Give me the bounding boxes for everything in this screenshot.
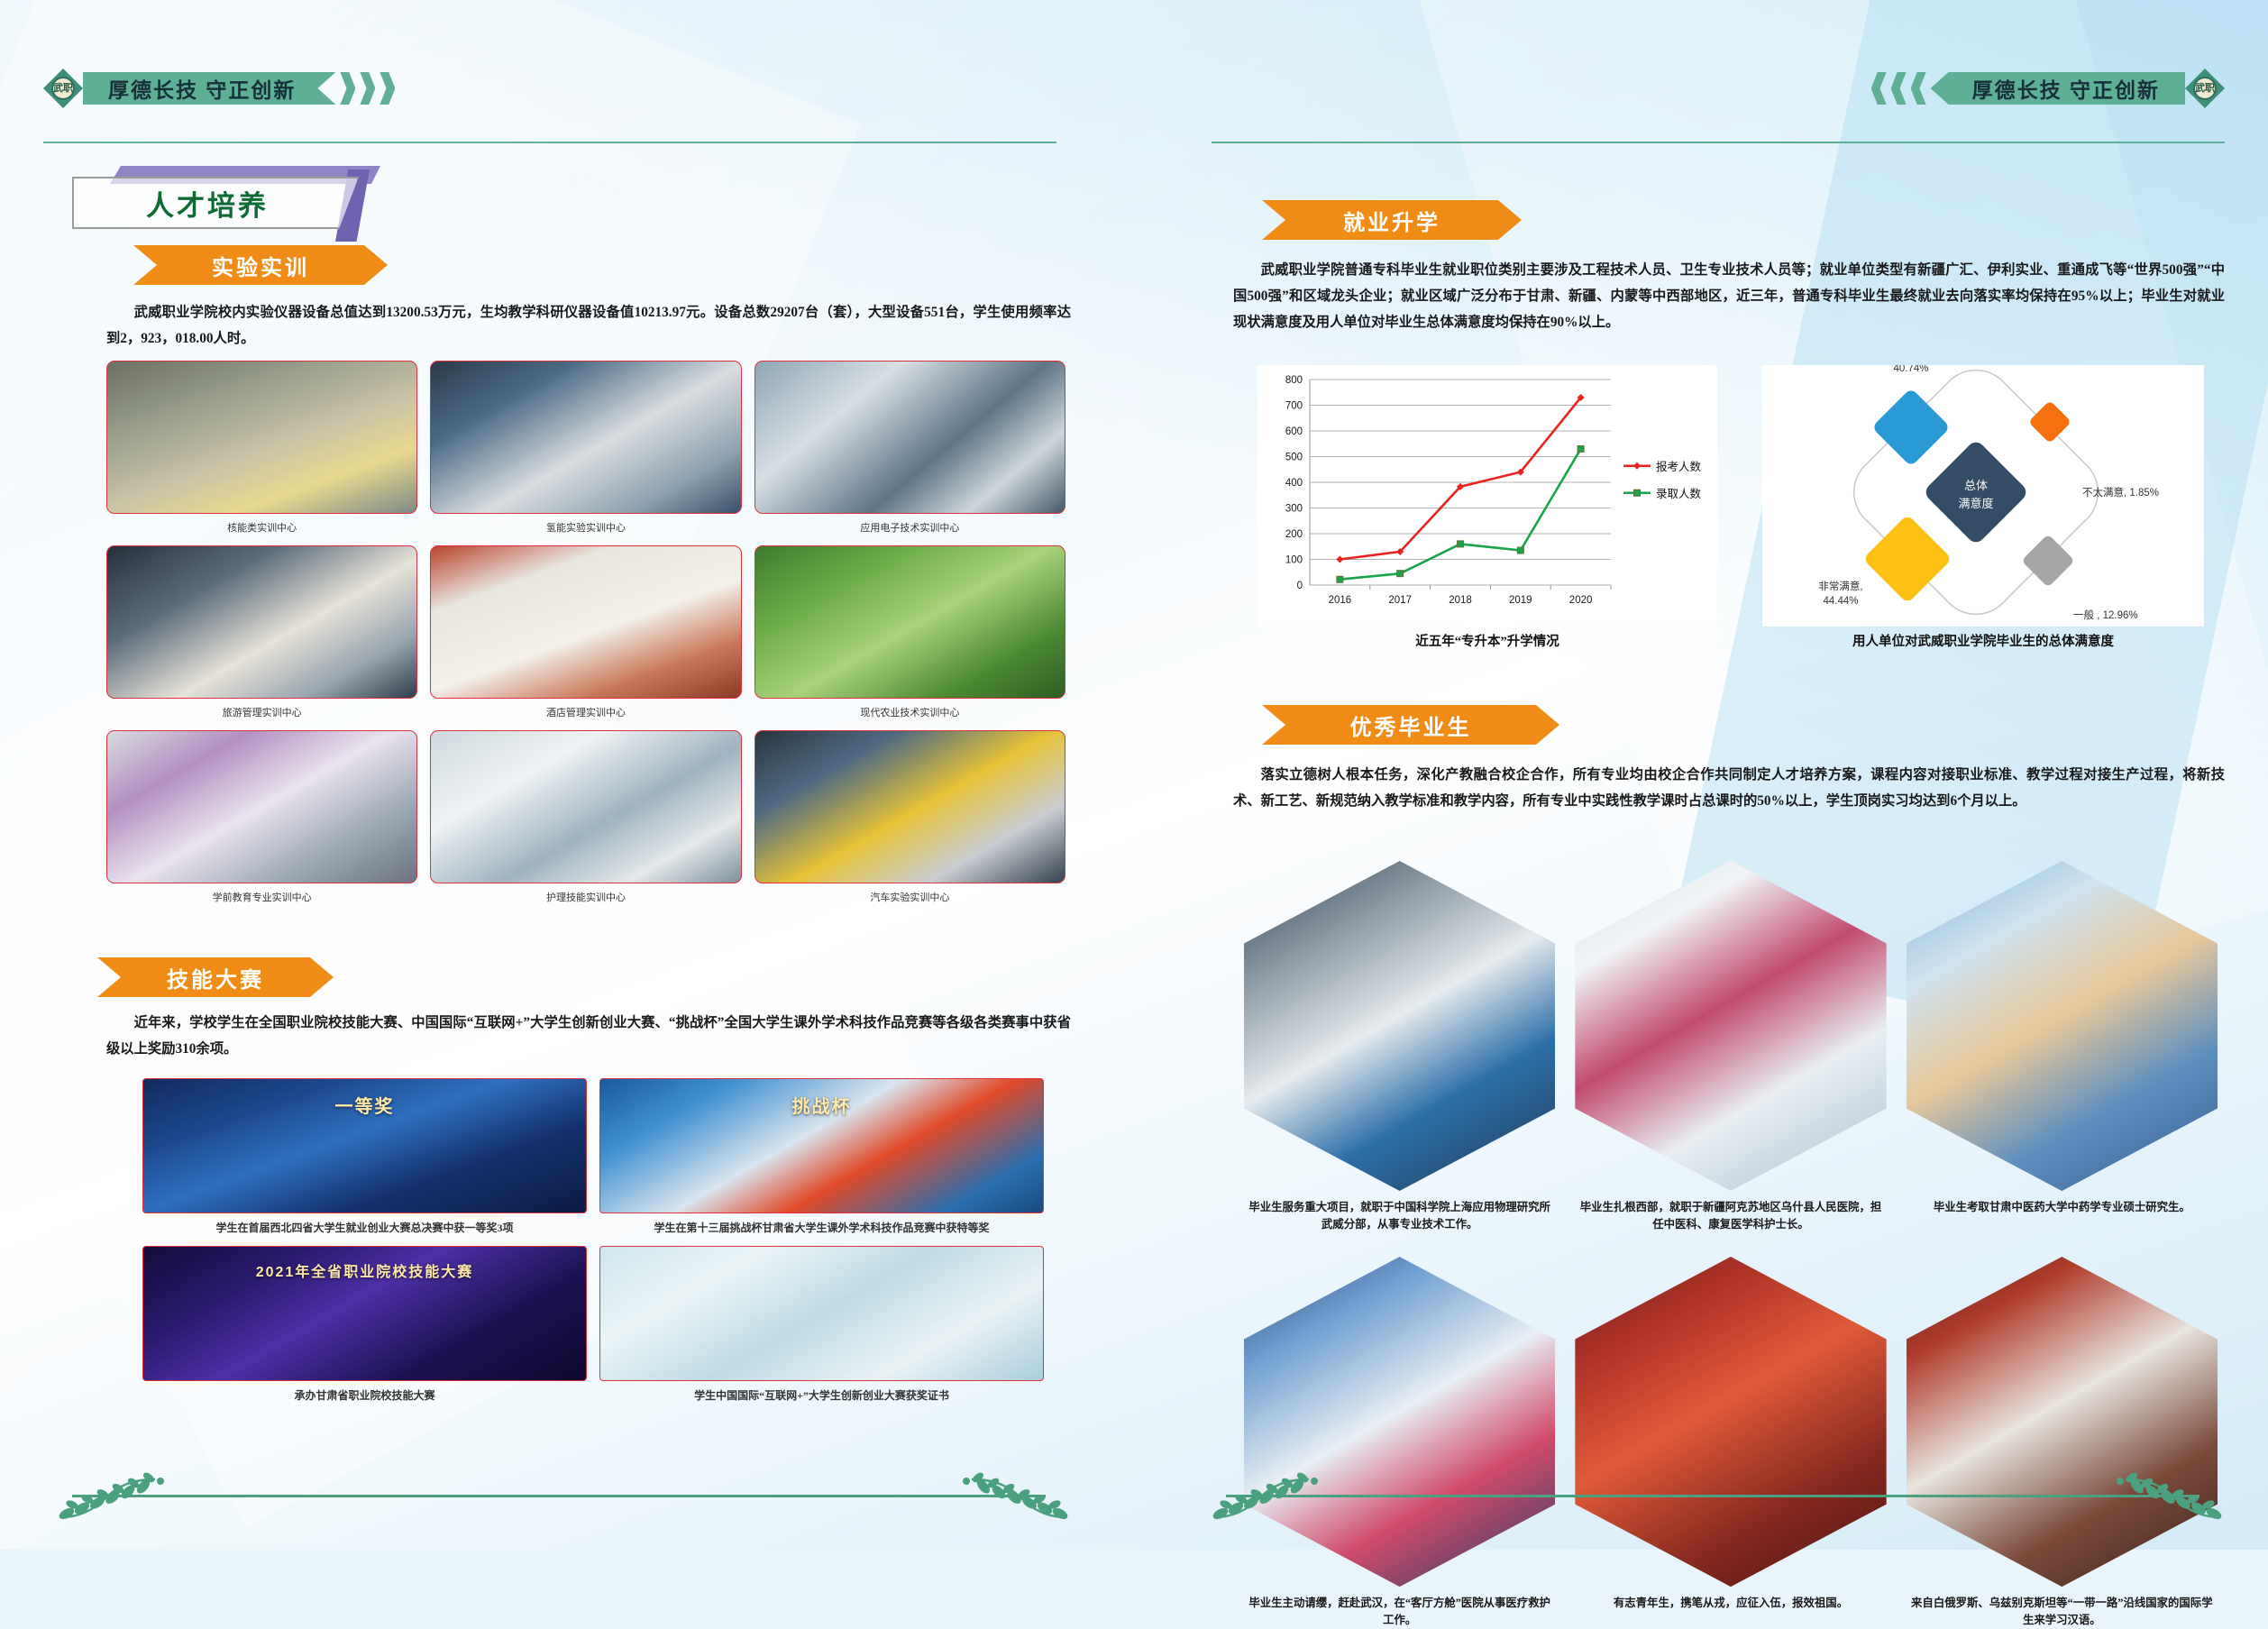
- lab-photo-item: 学前教育专业实训中心: [106, 730, 417, 904]
- lab-photo: [106, 730, 417, 883]
- lab-photo-caption: 旅游管理实训中心: [223, 705, 302, 719]
- page-title: 人才培养: [146, 183, 285, 224]
- lab-photo: [754, 361, 1065, 514]
- lab-photo: [430, 545, 741, 699]
- contest-photo-caption: 承办甘肃省职业院校技能大赛: [294, 1387, 434, 1403]
- graduate-item: 有志青年生，携笔从戎，应征入伍，报效祖国。: [1575, 1257, 1886, 1629]
- lab-photo-caption: 核能类实训中心: [227, 520, 297, 535]
- line-chart-svg: 0100200300400500600700800201620172018201…: [1257, 365, 1717, 627]
- chevron-icon: [340, 72, 355, 105]
- section-banner-employment: 就业升学: [1262, 200, 1522, 240]
- contest-photo-caption: 学生中国国际“互联网+”大学生创新创业大赛获奖证书: [694, 1387, 949, 1403]
- lab-photo-caption: 学前教育专业实训中心: [213, 890, 312, 904]
- graduate-item: 毕业生服务重大项目，就职于中国科学院上海应用物理研究所武威分部，从事专业技术工作…: [1244, 861, 1555, 1233]
- graduate-caption: 有志青年生，携笔从戎，应征入伍，报效祖国。: [1614, 1595, 1848, 1612]
- contest-photo-item: 学生中国国际“互联网+”大学生创新创业大赛获奖证书: [599, 1246, 1044, 1403]
- graduate-photo: [1907, 1257, 2218, 1587]
- lab-photo-item: 核能类实训中心: [106, 361, 417, 535]
- lab-photo: [754, 730, 1065, 883]
- svg-text:100: 100: [1285, 555, 1303, 566]
- line-chart: 0100200300400500600700800201620172018201…: [1257, 365, 1717, 627]
- graduate-photo: [1907, 861, 2218, 1191]
- section-banner-graduates: 优秀毕业生: [1262, 705, 1559, 745]
- graduate-photo: [1244, 1257, 1555, 1587]
- footer-ornament: [956, 1472, 1073, 1523]
- svg-text:满意度: 满意度: [1958, 497, 1993, 510]
- header-ribbon-right: 厚德长技 守正创新 武职: [1871, 69, 2225, 108]
- lab-photo-item: 现代农业技术实训中心: [754, 545, 1065, 719]
- svg-text:200: 200: [1285, 529, 1303, 540]
- vine-ornament-icon: [956, 1472, 1073, 1523]
- contest-photo-caption: 学生在第十三届挑战杯甘肃省大学生课外学术科技作品竞赛中获特等奖: [654, 1220, 989, 1235]
- svg-text:0: 0: [1297, 581, 1303, 591]
- chevron-icon: [1891, 72, 1907, 105]
- section-banner-contest: 技能大赛: [97, 957, 334, 997]
- graduate-caption: 来自白俄罗斯、乌兹别克斯坦等“一带一路”沿线国家的国际学生来学习汉语。: [1907, 1595, 2218, 1629]
- contest-photo-overlay-text: 2021年全省职业院校技能大赛: [143, 1259, 586, 1281]
- section-banner-label: 技能大赛: [97, 957, 334, 997]
- contest-photo: [599, 1246, 1044, 1381]
- graduate-item: 毕业生考取甘肃中医药大学中药学专业硕士研究生。: [1907, 861, 2218, 1233]
- vine-ornament-icon: [1208, 1472, 1325, 1523]
- graduate-caption: 毕业生考取甘肃中医药大学中药学专业硕士研究生。: [1934, 1199, 2190, 1216]
- lab-photo: [754, 545, 1065, 699]
- svg-text:600: 600: [1285, 426, 1303, 437]
- contest-photo-item: 一等奖学生在首届西北四省大学生就业创业大赛总决赛中获一等奖3项: [142, 1078, 587, 1235]
- footer-vine-right: [1226, 1495, 2199, 1497]
- graduate-photo: [1244, 861, 1555, 1191]
- graduate-caption: 毕业生主动请缨，赶赴武汉，在“客厅方舱”医院从事医疗救护工作。: [1244, 1595, 1555, 1629]
- svg-text:2019: 2019: [1509, 595, 1532, 606]
- svg-text:录取人数: 录取人数: [1656, 487, 1702, 500]
- section-banner-label: 实验实训: [133, 245, 388, 285]
- chevron-icon: [1911, 72, 1926, 105]
- graduate-item: 毕业生扎根西部，就职于新疆阿克苏地区乌什县人民医院，担任中医科、康复医学科护士长…: [1575, 861, 1886, 1233]
- contest-photo-item: 2021年全省职业院校技能大赛承办甘肃省职业院校技能大赛: [142, 1246, 587, 1403]
- svg-text:2020: 2020: [1569, 595, 1593, 606]
- lab-photo-item: 酒店管理实训中心: [430, 545, 741, 719]
- footer-vine-left: [72, 1495, 1046, 1497]
- chevron-icon: [360, 72, 375, 105]
- lab-photo-caption: 氢能实验实训中心: [546, 520, 626, 535]
- lab-photo-item: 旅游管理实训中心: [106, 545, 417, 719]
- section-paragraph-lab: 武威职业学院校内实验仪器设备总值达到13200.53万元，生均教学科研仪器设备值…: [106, 299, 1071, 352]
- svg-text:2018: 2018: [1449, 595, 1472, 606]
- footer-ornament: [54, 1472, 171, 1523]
- section-paragraph-employment: 武威职业学院普通专科毕业生就业职位类别主要涉及工程技术人员、卫生专业技术人员等；…: [1233, 257, 2225, 335]
- college-seal-icon: 武职: [2185, 69, 2225, 108]
- svg-text:800: 800: [1285, 375, 1303, 386]
- contest-photo-caption: 学生在首届西北四省大学生就业创业大赛总决赛中获一等奖3项: [215, 1220, 513, 1235]
- lab-photo-caption: 现代农业技术实训中心: [860, 705, 959, 719]
- svg-text:2017: 2017: [1388, 595, 1412, 606]
- chevron-icon: [1871, 72, 1887, 105]
- satisfaction-chart-caption: 用人单位对武威职业学院毕业生的总体满意度: [1744, 631, 2222, 650]
- line-chart-caption: 近五年“专升本”升学情况: [1257, 631, 1717, 650]
- college-seal-icon: 武职: [43, 69, 83, 108]
- graduate-item: 毕业生主动请缨，赶赴武汉，在“客厅方舱”医院从事医疗救护工作。: [1244, 1257, 1555, 1629]
- footer-ornament: [1208, 1472, 1325, 1523]
- lab-photo: [430, 361, 741, 514]
- plate-frame: 人才培养: [72, 177, 359, 229]
- header-ribbon-left: 武职 厚德长技 守正创新: [43, 69, 395, 108]
- svg-text:2016: 2016: [1329, 595, 1352, 606]
- contest-photo-overlay-text: 挑战杯: [600, 1092, 1043, 1118]
- lab-photo: [106, 545, 417, 699]
- contest-photo-grid: 一等奖学生在首届西北四省大学生就业创业大赛总决赛中获一等奖3项挑战杯学生在第十三…: [142, 1078, 1044, 1403]
- svg-text:700: 700: [1285, 401, 1303, 412]
- graduate-photo: [1575, 861, 1886, 1191]
- graduate-caption: 毕业生扎根西部，就职于新疆阿克苏地区乌什县人民医院，担任中医科、康复医学科护士长…: [1575, 1199, 1886, 1233]
- contest-photo: 挑战杯: [599, 1078, 1044, 1213]
- header-motto-right: 厚德长技 守正创新: [1931, 72, 2185, 105]
- section-paragraph-graduates: 落实立德树人根本任务，深化产教融合校企合作，所有专业均由校企合作共同制定人才培养…: [1233, 762, 2225, 814]
- lab-photo-caption: 应用电子技术实训中心: [860, 520, 959, 535]
- lab-photo: [106, 361, 417, 514]
- svg-text:报考人数: 报考人数: [1656, 460, 1702, 473]
- contest-photo-item: 挑战杯学生在第十三届挑战杯甘肃省大学生课外学术科技作品竞赛中获特等奖: [599, 1078, 1044, 1235]
- svg-text:不太满意, 1.85%: 不太满意, 1.85%: [2082, 486, 2159, 499]
- section-banner-label: 就业升学: [1262, 200, 1522, 240]
- seal-disc: 武职: [2193, 77, 2217, 100]
- seal-disc: 武职: [51, 77, 75, 100]
- svg-text:40.74%: 40.74%: [1893, 365, 1928, 374]
- header-underline-left: [43, 142, 1056, 143]
- graduate-caption: 毕业生服务重大项目，就职于中国科学院上海应用物理研究所武威分部，从事专业技术工作…: [1244, 1199, 1555, 1233]
- satisfaction-chart-svg: 总体满意度比较满意,40.74%不太满意, 1.85%一般 , 12.96%非常…: [1762, 365, 2204, 627]
- lab-photo-item: 应用电子技术实训中心: [754, 361, 1065, 535]
- page-title-plate: 人才培养: [72, 177, 389, 231]
- chevron-icon: [380, 72, 395, 105]
- satisfaction-chart: 总体满意度比较满意,40.74%不太满意, 1.85%一般 , 12.96%非常…: [1762, 365, 2204, 627]
- lab-photo-item: 氢能实验实训中心: [430, 361, 741, 535]
- header-motto-left: 厚德长技 守正创新: [83, 72, 335, 105]
- header-underline-right: [1212, 142, 2225, 143]
- contest-photo: 一等奖: [142, 1078, 587, 1213]
- svg-text:非常满意,: 非常满意,: [1818, 580, 1862, 592]
- lab-photo-item: 护理技能实训中心: [430, 730, 741, 904]
- graduate-photo: [1575, 1257, 1886, 1587]
- svg-text:总体: 总体: [1964, 479, 1988, 492]
- lab-photo-item: 汽车实验实训中心: [754, 730, 1065, 904]
- lab-photo-caption: 酒店管理实训中心: [546, 705, 626, 719]
- graduate-grid: 毕业生服务重大项目，就职于中国科学院上海应用物理研究所武威分部，从事专业技术工作…: [1244, 861, 2218, 1629]
- lab-photo: [430, 730, 741, 883]
- lab-photo-caption: 汽车实验实训中心: [870, 890, 949, 904]
- contest-photo-overlay-text: 一等奖: [143, 1092, 586, 1118]
- footer-ornament: [2109, 1472, 2227, 1523]
- svg-text:400: 400: [1285, 478, 1303, 489]
- graduate-item: 来自白俄罗斯、乌兹别克斯坦等“一带一路”沿线国家的国际学生来学习汉语。: [1907, 1257, 2218, 1629]
- section-banner-label: 优秀毕业生: [1262, 705, 1559, 745]
- section-paragraph-contest: 近年来，学校学生在全国职业院校技能大赛、中国国际“互联网+”大学生创新创业大赛、…: [106, 1010, 1071, 1062]
- svg-text:44.44%: 44.44%: [1823, 596, 1858, 607]
- section-banner-lab: 实验实训: [133, 245, 388, 285]
- svg-text:500: 500: [1285, 453, 1303, 463]
- contest-photo: 2021年全省职业院校技能大赛: [142, 1246, 587, 1381]
- vine-ornament-icon: [2109, 1472, 2227, 1523]
- lab-photo-caption: 护理技能实训中心: [546, 890, 626, 904]
- svg-text:一般 , 12.96%: 一般 , 12.96%: [2073, 609, 2138, 621]
- svg-text:300: 300: [1285, 504, 1303, 515]
- lab-photo-grid: 核能类实训中心氢能实验实训中心应用电子技术实训中心旅游管理实训中心酒店管理实训中…: [106, 361, 1065, 904]
- vine-ornament-icon: [54, 1472, 171, 1523]
